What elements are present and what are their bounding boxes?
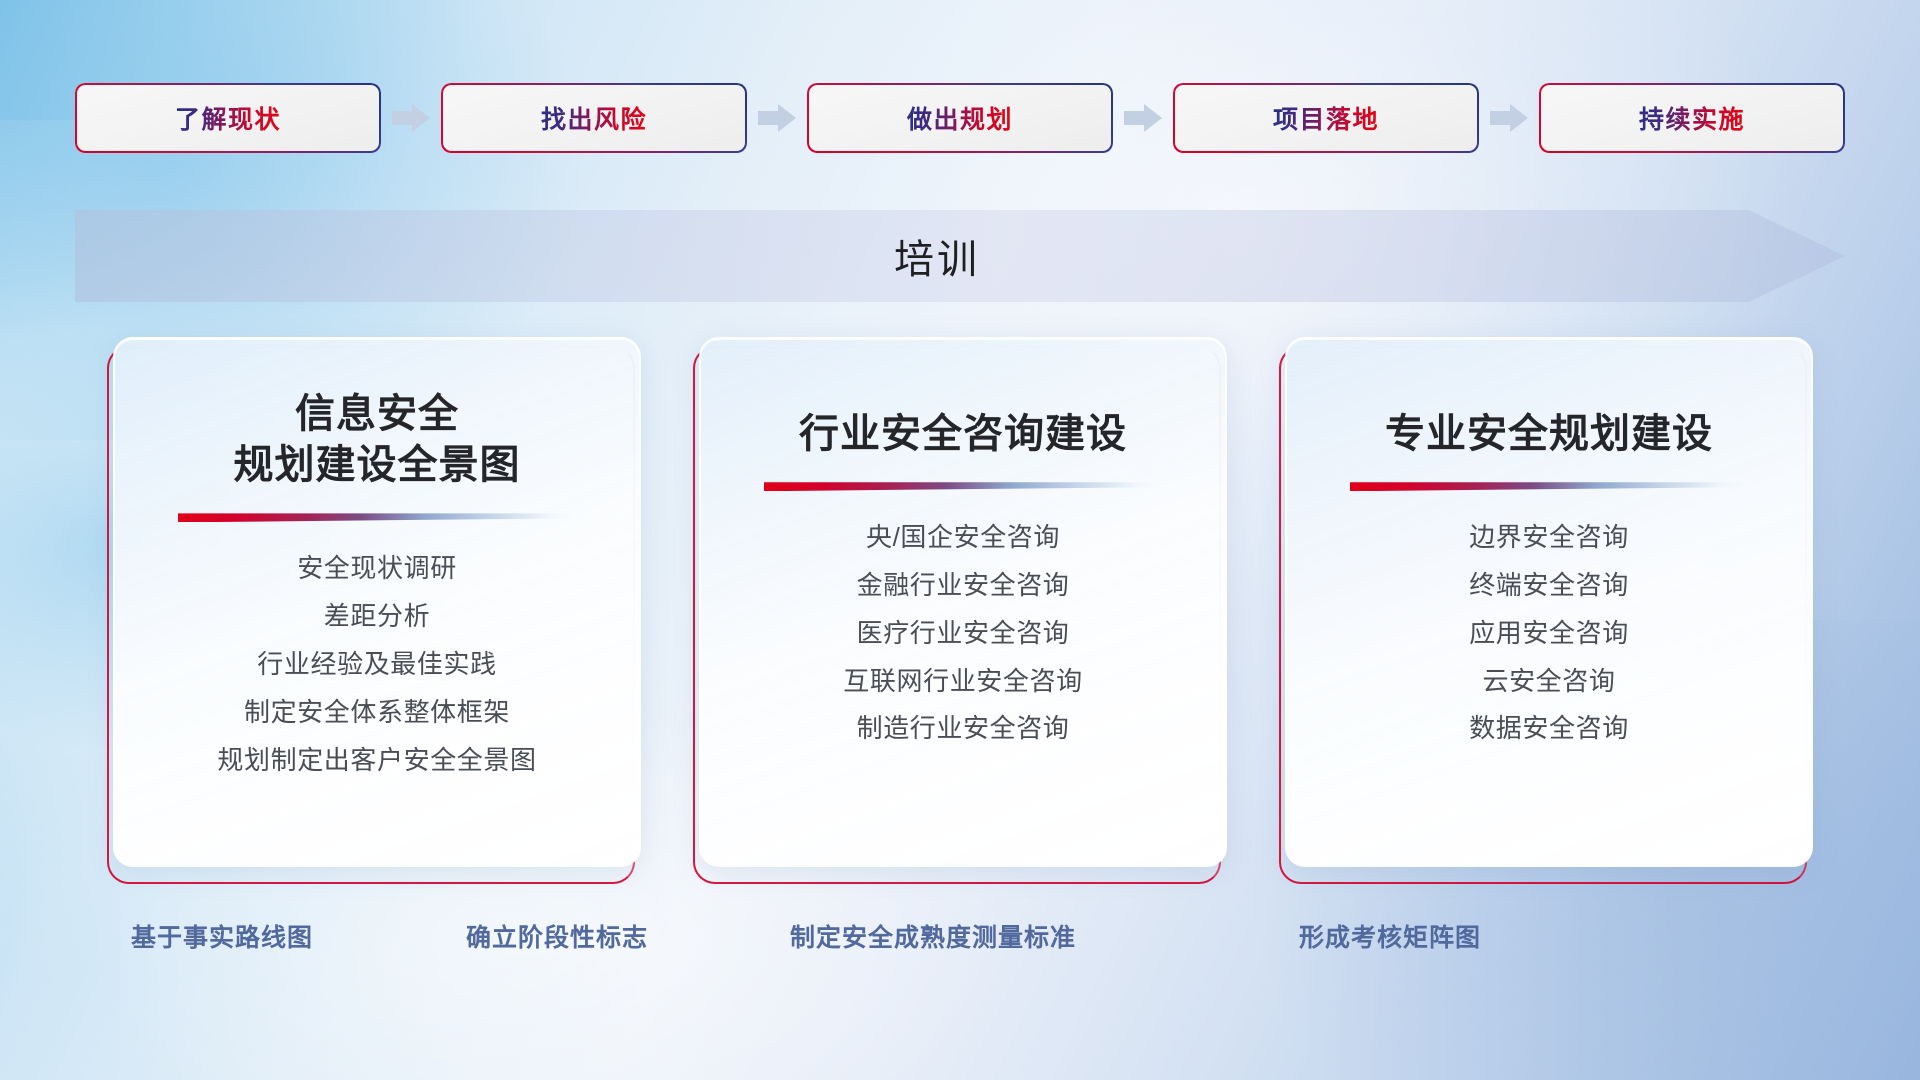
list-item: 云安全咨询 xyxy=(1482,665,1615,699)
step-arrow-3 xyxy=(1113,98,1173,138)
step-label: 项目落地 xyxy=(1273,100,1379,136)
divider-gradient-bar xyxy=(764,482,1162,491)
card-item-list: 边界安全咨询 终端安全咨询 应用安全咨询 云安全咨询 数据安全咨询 xyxy=(1287,521,1811,746)
card-title: 专业安全规划建设 xyxy=(1359,339,1739,460)
list-item: 数据安全咨询 xyxy=(1469,712,1629,746)
card-divider xyxy=(1350,482,1748,491)
caption-fact-based-roadmap: 基于事实路线图 xyxy=(131,918,313,954)
list-item: 央/国企安全咨询 xyxy=(866,521,1060,555)
card-item-list: 安全现状调研 差距分析 行业经验及最佳实践 制定安全体系整体框架 规划制定出客户… xyxy=(115,552,639,777)
arrow-right-icon xyxy=(758,104,796,132)
caption-row: 基于事实路线图 确立阶段性标志 制定安全成熟度测量标准 形成考核矩阵图 xyxy=(0,918,1920,968)
step-label: 找出风险 xyxy=(541,100,647,136)
card-title-line: 行业安全咨询建设 xyxy=(799,409,1127,460)
card-divider xyxy=(178,513,576,522)
card-title: 信息安全 规划建设全景图 xyxy=(208,339,547,491)
card-wrapper-1: 信息安全 规划建设全景图 安全现状调研 差距分析 行业经验及最佳实践 制定安全体… xyxy=(113,337,641,877)
step-label: 了解现状 xyxy=(175,100,281,136)
step-box-2[interactable]: 找出风险 xyxy=(441,83,747,153)
list-item: 安全现状调研 xyxy=(297,552,457,586)
divider-gradient-bar xyxy=(178,513,576,522)
step-box-1[interactable]: 了解现状 xyxy=(75,83,381,153)
card-wrapper-3: 专业安全规划建设 边界安全咨询 终端安全咨询 应用安全咨询 云安全咨询 数据安全… xyxy=(1285,337,1813,877)
step-label: 做出规划 xyxy=(907,100,1013,136)
slide-canvas: 了解现状 找出风险 做出规划 项目落地 持续实施 培训 xyxy=(0,0,1920,1080)
card-industry-security-consulting[interactable]: 行业安全咨询建设 央/国企安全咨询 金融行业安全咨询 医疗行业安全咨询 互联网行… xyxy=(699,337,1227,867)
list-item: 边界安全咨询 xyxy=(1469,521,1629,555)
list-item: 制定安全体系整体框架 xyxy=(244,696,510,730)
list-item: 规划制定出客户安全全景图 xyxy=(217,744,536,778)
list-item: 医疗行业安全咨询 xyxy=(857,617,1070,651)
card-row: 信息安全 规划建设全景图 安全现状调研 差距分析 行业经验及最佳实践 制定安全体… xyxy=(113,337,1813,877)
step-box-4[interactable]: 项目落地 xyxy=(1173,83,1479,153)
list-item: 互联网行业安全咨询 xyxy=(843,665,1082,699)
card-divider xyxy=(764,482,1162,491)
card-title-line: 规划建设全景图 xyxy=(234,440,521,491)
caption-phase-milestones: 确立阶段性标志 xyxy=(466,918,648,954)
training-banner-arrow: 培训 xyxy=(75,210,1845,302)
banner-title: 培训 xyxy=(894,227,980,285)
card-title: 行业安全咨询建设 xyxy=(773,339,1153,460)
step-box-3[interactable]: 做出规划 xyxy=(807,83,1113,153)
card-professional-security-planning[interactable]: 专业安全规划建设 边界安全咨询 终端安全咨询 应用安全咨询 云安全咨询 数据安全… xyxy=(1285,337,1813,867)
list-item: 应用安全咨询 xyxy=(1469,617,1629,651)
arrow-right-icon xyxy=(1490,104,1528,132)
caption-assessment-matrix: 形成考核矩阵图 xyxy=(1299,918,1481,954)
step-arrow-1 xyxy=(381,98,441,138)
caption-maturity-standard: 制定安全成熟度测量标准 xyxy=(790,918,1076,954)
list-item: 终端安全咨询 xyxy=(1469,569,1629,603)
list-item: 行业经验及最佳实践 xyxy=(257,648,496,682)
list-item: 差距分析 xyxy=(324,600,430,634)
card-information-security-blueprint[interactable]: 信息安全 规划建设全景图 安全现状调研 差距分析 行业经验及最佳实践 制定安全体… xyxy=(113,337,641,867)
arrow-right-icon xyxy=(1124,104,1162,132)
divider-gradient-bar xyxy=(1350,482,1748,491)
card-item-list: 央/国企安全咨询 金融行业安全咨询 医疗行业安全咨询 互联网行业安全咨询 制造行… xyxy=(701,521,1225,746)
step-box-5[interactable]: 持续实施 xyxy=(1539,83,1845,153)
card-wrapper-2: 行业安全咨询建设 央/国企安全咨询 金融行业安全咨询 医疗行业安全咨询 互联网行… xyxy=(699,337,1227,877)
step-arrow-2 xyxy=(747,98,807,138)
list-item: 制造行业安全咨询 xyxy=(857,712,1070,746)
process-step-row: 了解现状 找出风险 做出规划 项目落地 持续实施 xyxy=(75,82,1845,154)
card-title-line: 专业安全规划建设 xyxy=(1385,409,1713,460)
step-label: 持续实施 xyxy=(1639,100,1745,136)
list-item: 金融行业安全咨询 xyxy=(857,569,1070,603)
card-title-line: 信息安全 xyxy=(234,389,521,440)
step-arrow-4 xyxy=(1479,98,1539,138)
arrow-right-icon xyxy=(392,104,430,132)
